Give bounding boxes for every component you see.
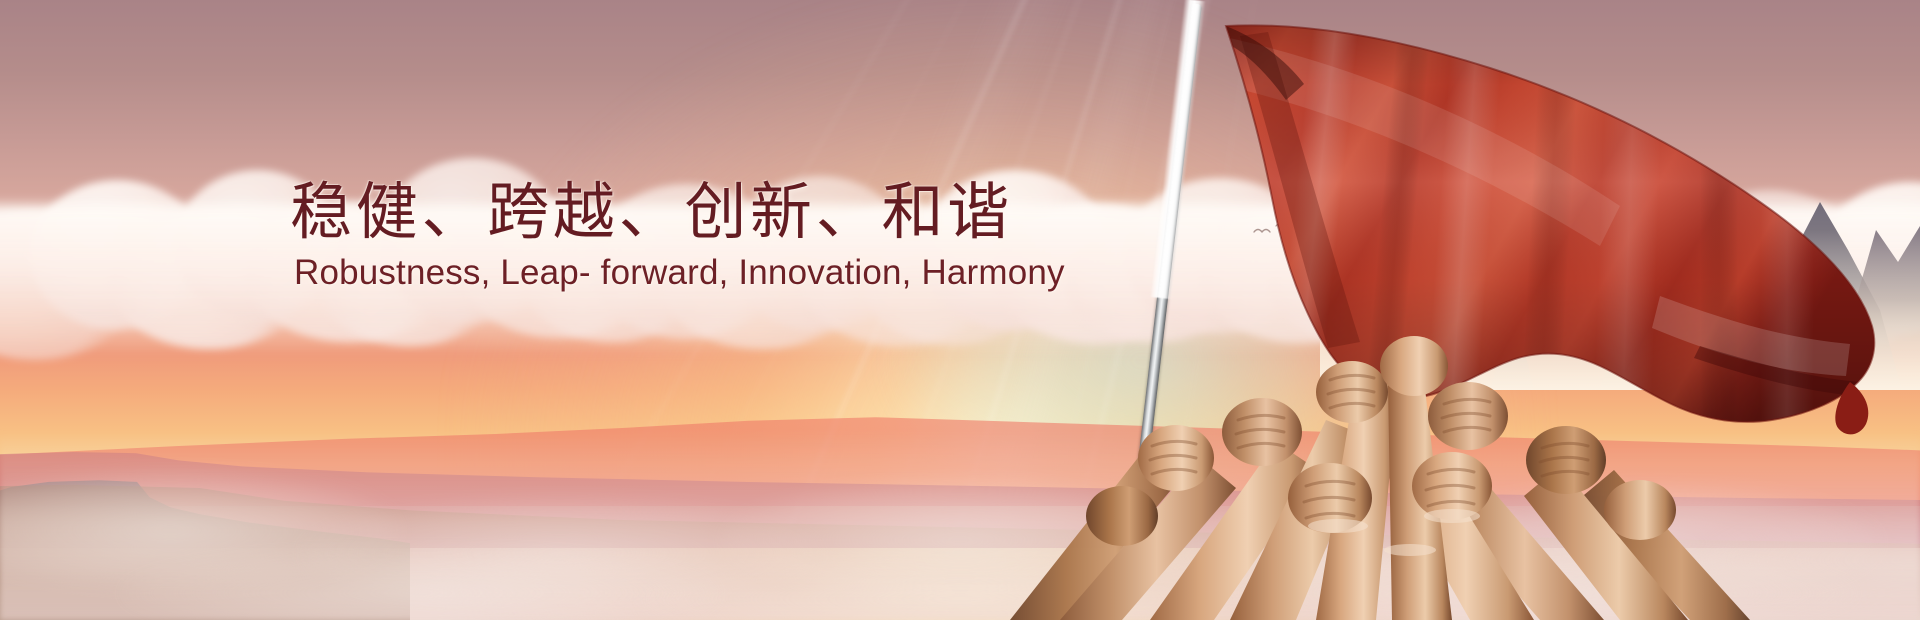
subline-english: Robustness, Leap- forward, Innovation, H… — [294, 253, 1190, 293]
headline-chinese: 稳健、跨越、创新、和谐 — [290, 176, 1190, 247]
raised-hands-holding-pole — [1000, 320, 1760, 620]
banner-copy: 稳健、跨越、创新、和谐 Robustness, Leap- forward, I… — [290, 176, 1190, 293]
hero-banner: 稳健、跨越、创新、和谐 Robustness, Leap- forward, I… — [0, 0, 1920, 620]
